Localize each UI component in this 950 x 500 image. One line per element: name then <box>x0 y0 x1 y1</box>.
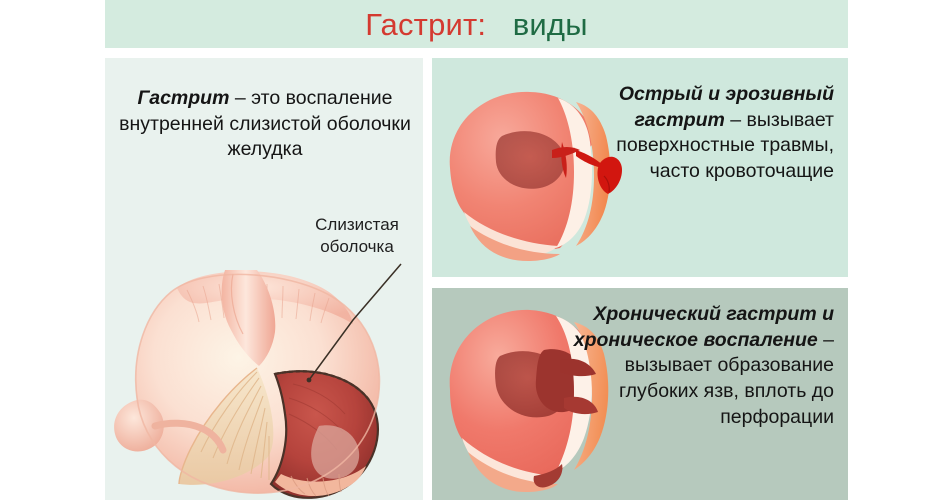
mucosa-callout-label: Слизистая оболочка <box>301 214 413 258</box>
panel-acute-erosive-gastritis: Острый и эрозивный гастрит – вызывает по… <box>432 58 848 277</box>
chronic-body: вызывает образование глубоких язв, вплот… <box>619 354 834 427</box>
page-title-primary: Гастрит: <box>365 7 486 42</box>
stomach-anatomy-illustration <box>107 226 407 500</box>
definition-text: Гастрит – это воспаление внутренней слиз… <box>119 86 411 163</box>
chronic-dash: – <box>818 329 834 351</box>
page-title-secondary: виды <box>513 7 588 42</box>
acute-dash: – <box>725 109 747 131</box>
acute-text: Острый и эрозивный гастрит – вызывает по… <box>576 82 834 185</box>
definition-dash: – <box>229 87 251 109</box>
panel-definition: Гастрит – это воспаление внутренней слиз… <box>105 58 423 500</box>
chronic-text: Хронический гастрит и хроническое воспал… <box>572 302 834 431</box>
panel-chronic-gastritis: Хронический гастрит и хроническое воспал… <box>432 288 848 500</box>
page-title: Гастрит: виды <box>365 9 587 40</box>
mucosa-label-line2: оболочка <box>301 236 413 258</box>
header-band: Гастрит: виды <box>105 0 848 48</box>
definition-lead: Гастрит <box>138 87 230 109</box>
mucosa-label-line1: Слизистая <box>301 214 413 236</box>
chronic-lead-line1: Хронический гастрит <box>593 303 816 325</box>
chronic-lead-line3: воспаление <box>703 329 817 351</box>
